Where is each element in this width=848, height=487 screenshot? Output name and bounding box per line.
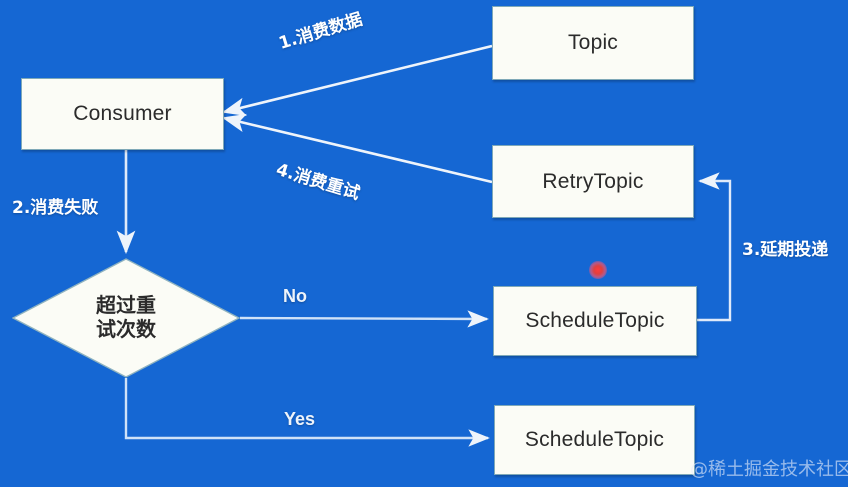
node-consumer[interactable]: Consumer bbox=[21, 78, 224, 150]
node-schedule-topic-2-label: ScheduleTopic bbox=[525, 428, 664, 452]
edge-label-no: No bbox=[283, 286, 307, 307]
node-topic[interactable]: Topic bbox=[492, 6, 694, 80]
node-decision[interactable]: 超过重 试次数 bbox=[12, 258, 240, 378]
node-topic-label: Topic bbox=[568, 31, 618, 55]
edge-decision-no-to-scheduletopic1 bbox=[240, 318, 487, 319]
edge-label-delayed-delivery: 3.延期投递 bbox=[742, 235, 828, 260]
node-retry-topic-label: RetryTopic bbox=[542, 170, 643, 194]
node-retry-topic[interactable]: RetryTopic bbox=[492, 145, 694, 218]
edge-retrytopic-to-consumer bbox=[224, 118, 492, 182]
edge-label-consume-failed: 2.消费失败 bbox=[12, 193, 98, 218]
node-schedule-topic-1[interactable]: ScheduleTopic bbox=[493, 286, 697, 356]
node-schedule-topic-1-label: ScheduleTopic bbox=[525, 309, 664, 333]
node-consumer-label: Consumer bbox=[73, 102, 171, 126]
edge-scheduletopic1-to-retrytopic bbox=[695, 181, 730, 320]
diagram-canvas: Consumer Topic RetryTopic 超过重 试次数 Schedu… bbox=[0, 0, 848, 487]
edge-topic-to-consumer bbox=[224, 46, 492, 112]
edge-label-yes: Yes bbox=[284, 409, 315, 430]
connector-layer bbox=[0, 0, 848, 487]
watermark: @稀土掘金技术社区 bbox=[690, 455, 848, 481]
red-dot-cursor-icon bbox=[589, 261, 607, 279]
diamond-shape bbox=[12, 258, 240, 378]
node-schedule-topic-2[interactable]: ScheduleTopic bbox=[494, 405, 695, 475]
